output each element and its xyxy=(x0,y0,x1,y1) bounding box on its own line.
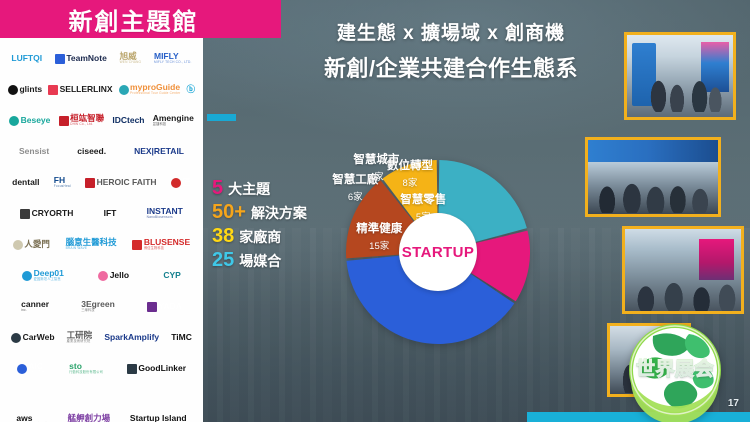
logo-aic: AIC新北創力坊 xyxy=(17,362,45,374)
photo-booth-visitors xyxy=(624,32,736,120)
logo-mark-icon xyxy=(85,178,95,188)
logo-wordmark: CRYORTH xyxy=(32,209,74,218)
logo-wordmark: dentall xyxy=(12,178,39,187)
stat-number: 38 xyxy=(212,226,234,247)
logo-mark-icon xyxy=(119,85,129,95)
logo-renaimen: 人愛門 xyxy=(13,240,50,250)
booth-side-banner xyxy=(701,42,729,93)
logo-mark-icon xyxy=(132,240,142,250)
accent-bar-left xyxy=(207,114,236,121)
logo-beseye-b: ⓑ xyxy=(186,85,195,94)
logo-ciseed: ciseed. xyxy=(77,147,106,156)
stat-item: 25場媒合 xyxy=(212,250,307,271)
logo-wordmark: aws xyxy=(16,414,32,422)
logo-mark-icon xyxy=(20,209,30,219)
partner-section: aws聯合創新中心 新北市艋舺創力場IAMMOSQUAREStartup Isl… xyxy=(4,384,199,422)
logo-mark-icon xyxy=(98,271,108,281)
logo-subtext: 昱捷科技 xyxy=(153,123,167,126)
logo-row: 人愛門腦意生醫科技BRAIN WAVEBLUSENSE博信生物科技 xyxy=(4,229,199,260)
logo-mark-icon xyxy=(9,116,19,126)
title-banner: 新創主題館 xyxy=(0,0,281,38)
logo-subtext: 三綠科技 xyxy=(81,309,95,312)
logo-wordmark: IDCtech xyxy=(112,116,144,125)
logo-mark-icon xyxy=(13,240,23,250)
world-expo-globe-badge: 世界展会 xyxy=(623,318,727,422)
logo-ttfb: 工研院產業技術研究院 xyxy=(67,331,93,343)
logo-row: CRYORTHIFTINSTANTNanoBiosensors xyxy=(4,198,199,229)
booth-kiosk-panel xyxy=(632,43,655,105)
logo-iammosquare: 艋舺創力場IAMMOSQUARE xyxy=(68,414,111,422)
logo-subtext: 產業技術研究院 xyxy=(67,340,91,343)
logo-myproguide: myproGuideProfessional Tour Guide Center xyxy=(119,83,181,95)
logo-wordmark: SELLERLINX xyxy=(60,85,113,94)
logo-dentall: dentall xyxy=(12,178,39,187)
logo-focusheal: FHFocusHeal xyxy=(54,176,71,188)
logo-carweb: CarWeb xyxy=(11,333,54,343)
stat-number: 5 xyxy=(212,178,223,199)
startup-theme-donut-chart: 數位轉型8家智慧零售5家精準健康15家智慧工廠6家智慧城市4家 STARTUP xyxy=(338,152,538,352)
logo-cyp: CYP xyxy=(163,271,180,280)
logo-sensist: Sensist xyxy=(19,147,49,156)
logo-mark-icon xyxy=(55,54,65,64)
logo-wordmark: TeamNote xyxy=(66,54,106,63)
logo-wordmark: GoodLinker xyxy=(138,364,186,373)
logo-subtext: Professional Tour Guide Center xyxy=(130,92,180,95)
logo-subtext: 博信生物科技 xyxy=(144,247,164,250)
logo-goodlinker: GoodLinker xyxy=(127,364,186,374)
logo-mark-icon xyxy=(171,178,181,188)
logo-wordmark: IFT xyxy=(104,209,117,218)
logo-heroicfaith: HEROIC FAITH xyxy=(85,178,156,188)
logo-wordmark: 匠 xyxy=(182,178,191,187)
logo-row: dentallFHFocusHealHEROIC FAITH匠 xyxy=(4,167,199,198)
logo-subtext: MIFLY TECH CO., LTD. xyxy=(154,61,192,64)
logo-wordmark: LUFTQI xyxy=(11,54,42,63)
logo-mark-icon xyxy=(147,302,157,312)
logo-sparkamplify: SparkAmplify xyxy=(104,333,159,342)
stat-label: 大主題 xyxy=(228,179,270,199)
stat-item: 5大主題 xyxy=(212,178,307,199)
logo-wen: 旭威WEN CHANG xyxy=(120,52,142,64)
logo-row: LUFTQITeamNote旭威WEN CHANGMIFLYMIFLY TECH… xyxy=(4,43,199,74)
expo-hall-header-banner xyxy=(588,140,718,162)
logo-ift: IFT xyxy=(104,209,117,218)
logo-subtext: NanoBiosensors xyxy=(147,216,173,219)
logo-wordmark: SparkAmplify xyxy=(104,333,159,342)
logo-wordmark: Startup Island xyxy=(130,414,187,422)
logo-wordmark: YADA xyxy=(159,302,182,311)
expo-pink-display-banner xyxy=(699,239,734,280)
page-number: 17 xyxy=(728,398,739,409)
stat-number: 25 xyxy=(212,250,234,271)
partner-logo-row: aws聯合創新中心 新北市艋舺創力場IAMMOSQUAREStartup Isl… xyxy=(4,402,199,422)
logo-subtext: 行動科技股份有限公司 xyxy=(69,371,103,374)
logo-idctech: IDCtech xyxy=(112,116,144,125)
logo-subtext: BRAIN WAVE xyxy=(66,247,88,250)
logo-subtext: FocusHeal xyxy=(54,185,71,188)
logo-subtext: DHW Co., Ltd. xyxy=(70,123,93,126)
logo-wordmark: ⓑ xyxy=(186,85,195,94)
logo-mark-icon xyxy=(17,364,27,374)
logo-wordmark: Beseye xyxy=(21,116,51,125)
logo-cryorth: CRYORTH xyxy=(20,209,73,219)
logo-beseye: Beseye xyxy=(9,116,50,126)
stat-label: 家廠商 xyxy=(239,227,281,247)
logo-wordmark: Jello xyxy=(110,271,129,280)
logo-wordmark: TiMC xyxy=(171,333,192,342)
statistics-list: 5大主題50+解決方案38家廠商25場媒合 xyxy=(212,178,307,271)
logo-sellerlinx: SELLERLINX xyxy=(48,85,112,95)
photo-expo-crowd xyxy=(585,137,721,217)
photo-expo-hall-image xyxy=(625,229,741,311)
logo-blusense: BLUSENSE博信生物科技 xyxy=(132,238,190,250)
logo-luftqi: LUFTQI xyxy=(11,54,42,63)
photo-booth-visitors-image xyxy=(627,35,733,117)
headline-secondary: 新創/企業共建合作生態系 xyxy=(286,55,616,83)
logo-subtext: WEN CHANG xyxy=(120,61,142,64)
logo-wordmark: NEX|RETAIL xyxy=(134,147,184,156)
donut-center-label: STARTUP xyxy=(402,244,475,261)
logo-canner: cannerinc. xyxy=(21,300,49,312)
logo-jello: Jello xyxy=(98,271,129,281)
logo-3egreen: 3Egreen三綠科技 xyxy=(81,300,115,312)
logo-wordmark: CYP xyxy=(163,271,180,280)
logo-subtext: 愛因斯坦人工智慧 xyxy=(34,278,61,281)
logo-instant: INSTANTNanoBiosensors xyxy=(147,207,183,219)
logo-deep01: Deep01愛因斯坦人工智慧 xyxy=(22,269,64,281)
partner-logo-panel: LUFTQITeamNote旭威WEN CHANGMIFLYMIFLY TECH… xyxy=(0,38,203,422)
logo-mifly: MIFLYMIFLY TECH CO., LTD. xyxy=(154,52,192,64)
stat-label: 解決方案 xyxy=(251,203,307,223)
logo-sto: sto行動科技股份有限公司 xyxy=(69,362,103,374)
logo-row: Sensistciseed.NEX|RETAIL xyxy=(4,136,199,167)
slide-canvas: 新創主題館 建生態 x 擴場域 x 創商機 新創/企業共建合作生態系 LUFTQ… xyxy=(0,0,750,422)
logo-row: cannerinc.3Egreen三綠科技YADA xyxy=(4,291,199,322)
logo-glints: glints xyxy=(8,85,42,95)
logo-amengine: Amengine昱捷科技 xyxy=(153,114,194,126)
logo-mark-icon xyxy=(8,85,18,95)
logo-mark-icon xyxy=(22,271,32,281)
logo-teamnote: TeamNote xyxy=(55,54,107,64)
stat-label: 場媒合 xyxy=(239,251,281,271)
logo-brainwave: 腦意生醫科技BRAIN WAVE xyxy=(66,238,117,250)
logo-wordmark: 人愛門 xyxy=(24,240,50,249)
headline-block: 建生態 x 擴場域 x 創商機 新創/企業共建合作生態系 xyxy=(286,22,616,82)
logo-zhenchu: 桓竑智聯DHW Co., Ltd. xyxy=(59,114,105,126)
logo-row: AIC新北創力坊sto行動科技股份有限公司GoodLinker xyxy=(4,353,199,384)
logo-timc: TiMC xyxy=(171,333,192,342)
logo-wordmark: 艋舺創力場 xyxy=(68,414,111,422)
logo-row: CarWeb工研院產業技術研究院SparkAmplifyTiMC xyxy=(4,322,199,353)
logo-subtext: 新北創力坊 xyxy=(28,371,45,374)
logo-mark-icon xyxy=(59,116,69,126)
logo-row: Beseye桓竑智聯DHW Co., Ltd.IDCtechAmengine昱捷… xyxy=(4,105,199,136)
logo-nexretail: NEX|RETAIL xyxy=(134,147,184,156)
logo-mark-icon xyxy=(127,364,137,374)
donut-center-hub: STARTUP xyxy=(399,213,477,291)
photo-expo-hall xyxy=(622,226,744,314)
page-title: 新創主題館 xyxy=(69,2,213,37)
logo-wordmark: ciseed. xyxy=(77,147,106,156)
logo-wordmark: Sensist xyxy=(19,147,49,156)
stat-number: 50+ xyxy=(212,202,246,223)
logo-yada: YADA xyxy=(147,302,182,312)
photo-expo-crowd-image xyxy=(588,140,718,214)
headline-primary: 建生態 x 擴場域 x 創商機 xyxy=(286,22,616,46)
logo-wordmark: glints xyxy=(19,85,42,94)
logo-wordmark: HEROIC FAITH xyxy=(97,178,157,187)
logo-startupisland: Startup IslandTAIWAN xyxy=(130,414,187,422)
logo-mark-icon xyxy=(11,333,21,343)
logo-mark-icon xyxy=(48,85,58,95)
logo-aws: aws聯合創新中心 新北市 xyxy=(16,414,48,422)
logo-row: Deep01愛因斯坦人工智慧JelloCYP xyxy=(4,260,199,291)
partner-tag-spacer xyxy=(4,384,199,402)
world-expo-label: 世界展会 xyxy=(623,354,727,381)
logo-wordmark: CarWeb xyxy=(23,333,55,342)
logo-row: glintsSELLERLINXmyproGuideProfessional T… xyxy=(4,74,199,105)
logo-jianggong: 匠 xyxy=(171,178,191,188)
logo-subtext: inc. xyxy=(21,309,27,312)
stat-item: 38家廠商 xyxy=(212,226,307,247)
stat-item: 50+解決方案 xyxy=(212,202,307,223)
